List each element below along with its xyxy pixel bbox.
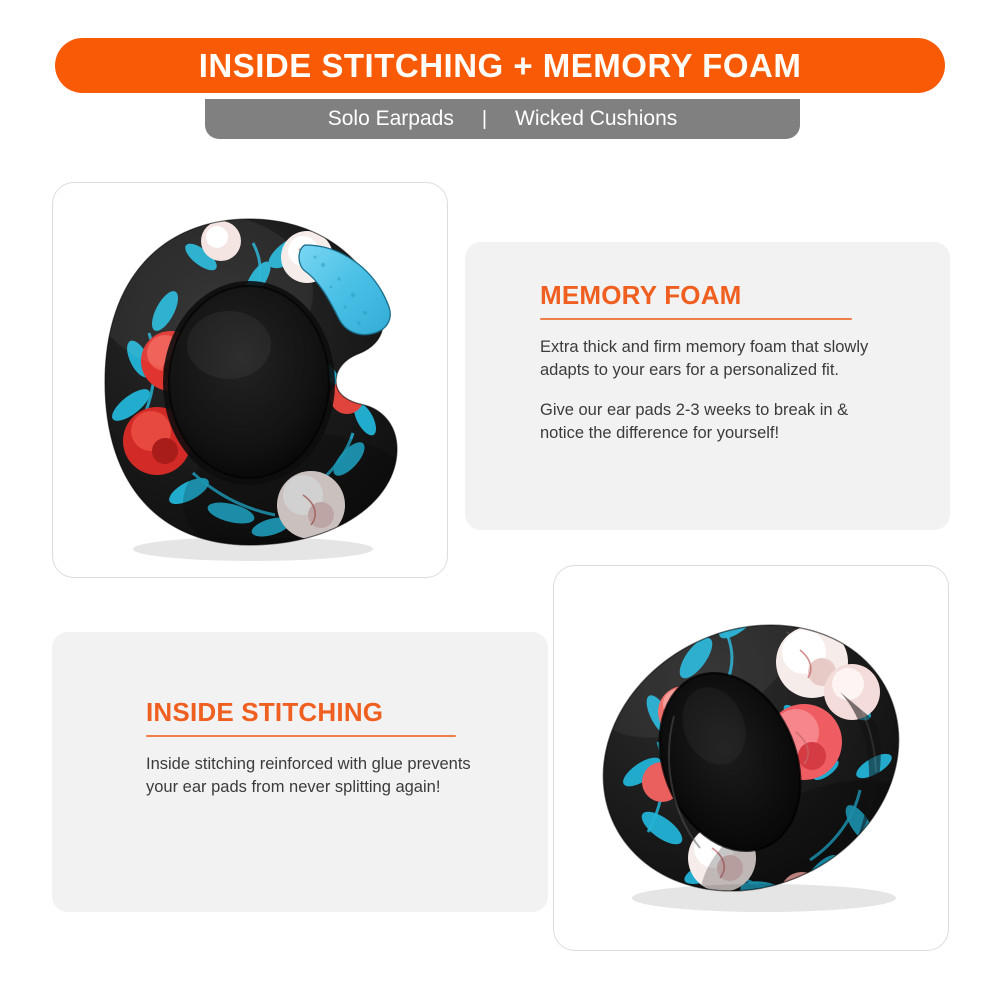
- memory-foam-heading-rule: [540, 318, 852, 320]
- memory-foam-text-block: MEMORY FOAM Extra thick and firm memory …: [540, 280, 870, 446]
- inside-stitching-paragraph-1: Inside stitching reinforced with glue pr…: [146, 753, 476, 800]
- title-banner: INSIDE STITCHING + MEMORY FOAM: [55, 38, 945, 93]
- earpad-front-cutaway-photo: [53, 183, 447, 577]
- brand-left-label: Solo Earpads: [328, 107, 454, 131]
- memory-foam-paragraph-2: Give our ear pads 2-3 weeks to break in …: [540, 399, 870, 446]
- earpad-angled-photo: [554, 566, 948, 950]
- infographic-page: INSIDE STITCHING + MEMORY FOAM Solo Earp…: [0, 0, 1000, 1000]
- brand-right-label: Wicked Cushions: [515, 107, 677, 131]
- brand-subtitle-bar: Solo Earpads | Wicked Cushions: [205, 99, 800, 139]
- memory-foam-heading: MEMORY FOAM: [540, 280, 870, 311]
- memory-foam-paragraph-1: Extra thick and firm memory foam that sl…: [540, 336, 870, 383]
- inside-stitching-heading-rule: [146, 735, 456, 737]
- brand-separator: |: [454, 108, 515, 131]
- inside-stitching-heading: INSIDE STITCHING: [146, 697, 476, 728]
- earpad-angled-photo-card: [553, 565, 949, 951]
- page-title: INSIDE STITCHING + MEMORY FOAM: [199, 47, 802, 85]
- earpad-front-photo-card: [52, 182, 448, 578]
- inside-stitching-text-block: INSIDE STITCHING Inside stitching reinfo…: [146, 697, 476, 800]
